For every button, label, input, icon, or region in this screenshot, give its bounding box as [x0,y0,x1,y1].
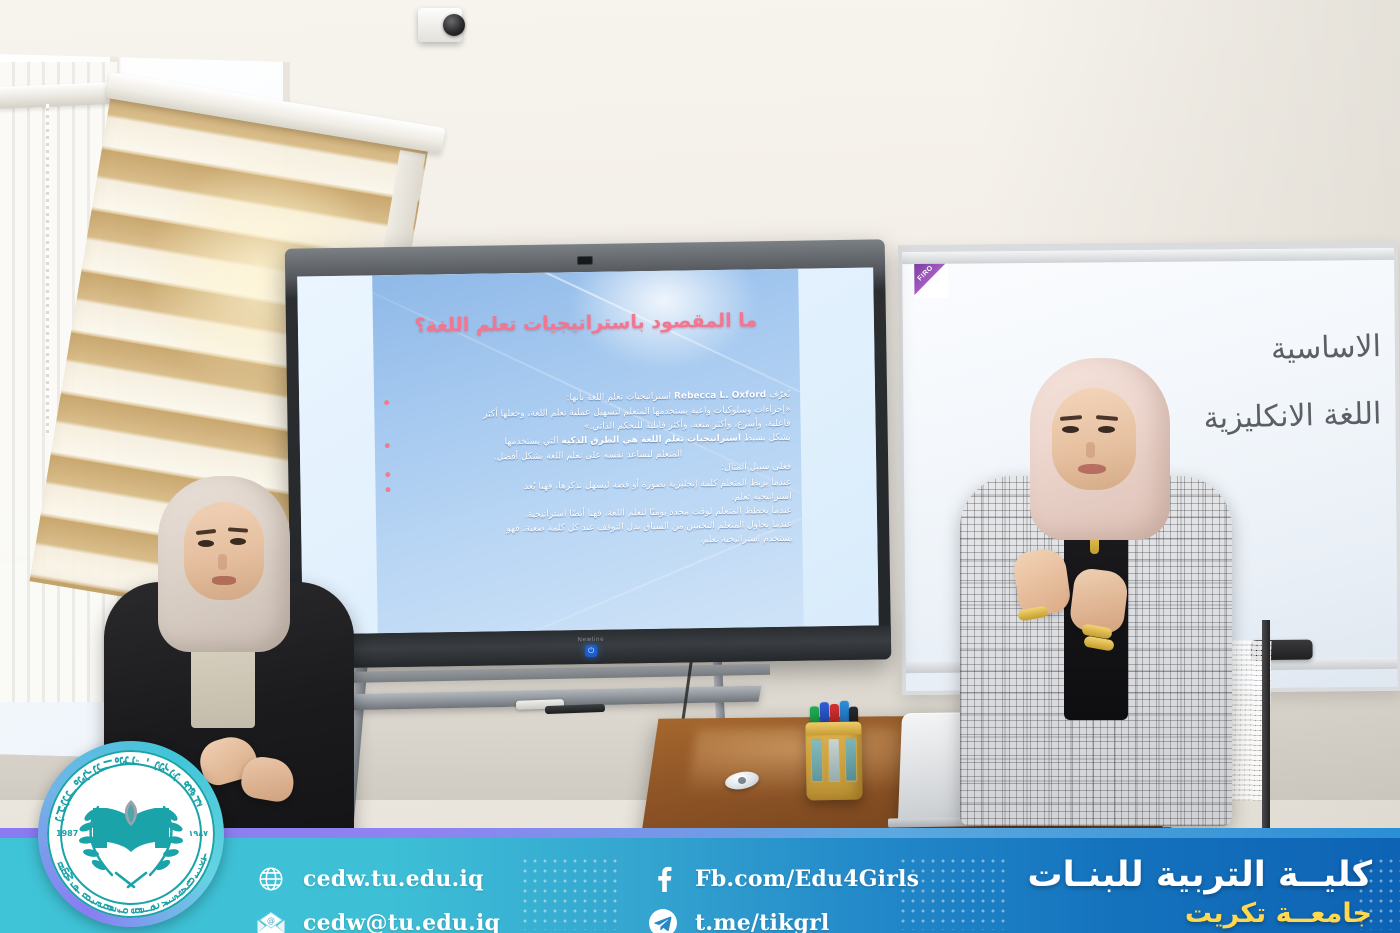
contact-column-left: cedw.tu.edu.iq @ cedw@tu.edu.iq [256,864,500,933]
bullet-dot-icon [385,443,390,448]
instructor-right-hand [1068,567,1129,635]
telegram-icon [648,908,678,933]
facebook-icon [648,864,678,894]
whiteboard-frame-top [902,248,1394,264]
email-address: cedw@tu.edu.iq [303,910,500,933]
instructor-right [960,358,1260,828]
brand-university-name: جامعــة تكريت [1027,898,1372,929]
envelope-icon: @ [256,908,286,933]
contact-telegram[interactable]: t.me/tikgrl [648,908,919,933]
instructor-right-nose [1086,442,1095,458]
mouse-scroll-detail [738,777,746,784]
brand-college-name: كليــة التربية للبنـات [1027,854,1372,896]
power-icon[interactable]: ⏻ [585,645,597,657]
pen-holder-panel [828,738,841,782]
instructor-right-mouth [1078,464,1106,474]
bullet-1-lead-tail: استراتيجيات تعلم اللغة بأنها: [566,392,671,404]
instructor-right-eye [1062,426,1079,433]
pen-holder-rim [805,722,861,736]
bullet-dot-icon [384,400,389,405]
bullet-2-post: التي يستخدمها [505,437,559,448]
bullet-2-highlight: استراتيجيات تعلم اللغة هي الطرق الذكية [561,434,741,447]
instructor-left-face [184,502,264,600]
display-brand-label: Newline [577,637,604,643]
globe-icon [256,864,286,894]
instructor-left-mouth [212,576,236,585]
college-logo: تانبلل ةيبرتلا ةيلك - تيركت ةعماجTikrit … [38,741,224,927]
instructor-left-nose [218,554,227,570]
bullet-1-lead: تُعرّف [769,390,790,400]
whiteboard-sticker-label: FIRO [917,264,935,282]
presentation-slide: ما المقصود باستراتيجيات تعلم اللغة؟ تُعر… [372,269,804,634]
instructor-left-eye [198,540,214,547]
slide-bullet-3-detail: عندما يربط المتعلم كلمة إنجليزية بصورة أ… [385,476,792,554]
website-url: cedw.tu.edu.iq [303,866,484,892]
laurel-wreath-icon [38,741,224,927]
bullet-2-pre: بشكل بسيط [744,433,791,444]
contact-website[interactable]: cedw.tu.edu.iq [256,864,500,894]
telegram-url: t.me/tikgrl [695,910,829,933]
banner-dot-pattern [520,856,620,930]
facebook-url: Fb.com/Edu4Girls [695,866,919,892]
svg-text:@: @ [267,916,275,925]
classroom-photo: FIRO الاساسية اللغة الانكليزية ما المقصو… [0,0,1400,933]
pen-holder-panel [845,738,858,782]
blind-chain [46,104,49,434]
brand-block: كليــة التربية للبنـات جامعــة تكريت [1027,854,1372,929]
contact-email[interactable]: @ cedw@tu.edu.iq [256,908,500,933]
slide-body: تُعرّف Rebecca L. Oxford استراتيجيات تعل… [384,389,793,556]
contact-facebook[interactable]: Fb.com/Edu4Girls [648,864,919,894]
whiteboard-corner-sticker: FIRO [914,264,948,298]
webcam-icon [577,256,593,265]
chair-post [1262,620,1270,840]
instructor-right-face [1052,388,1136,490]
whiteboard-handwriting-line-1: الاساسية [1271,329,1382,367]
security-camera-lens-icon [443,14,465,36]
instructor-right-eye [1098,426,1115,433]
bullet-dot-icon [385,487,390,492]
instructor-left-eye [230,538,246,545]
contact-column-right: Fb.com/Edu4Girls t.me/tikgrl [648,864,919,933]
marker-holder-icon [805,722,862,801]
bullet-1-author: Rebecca L. Oxford [674,390,766,401]
pen-holder-panel [811,738,824,782]
